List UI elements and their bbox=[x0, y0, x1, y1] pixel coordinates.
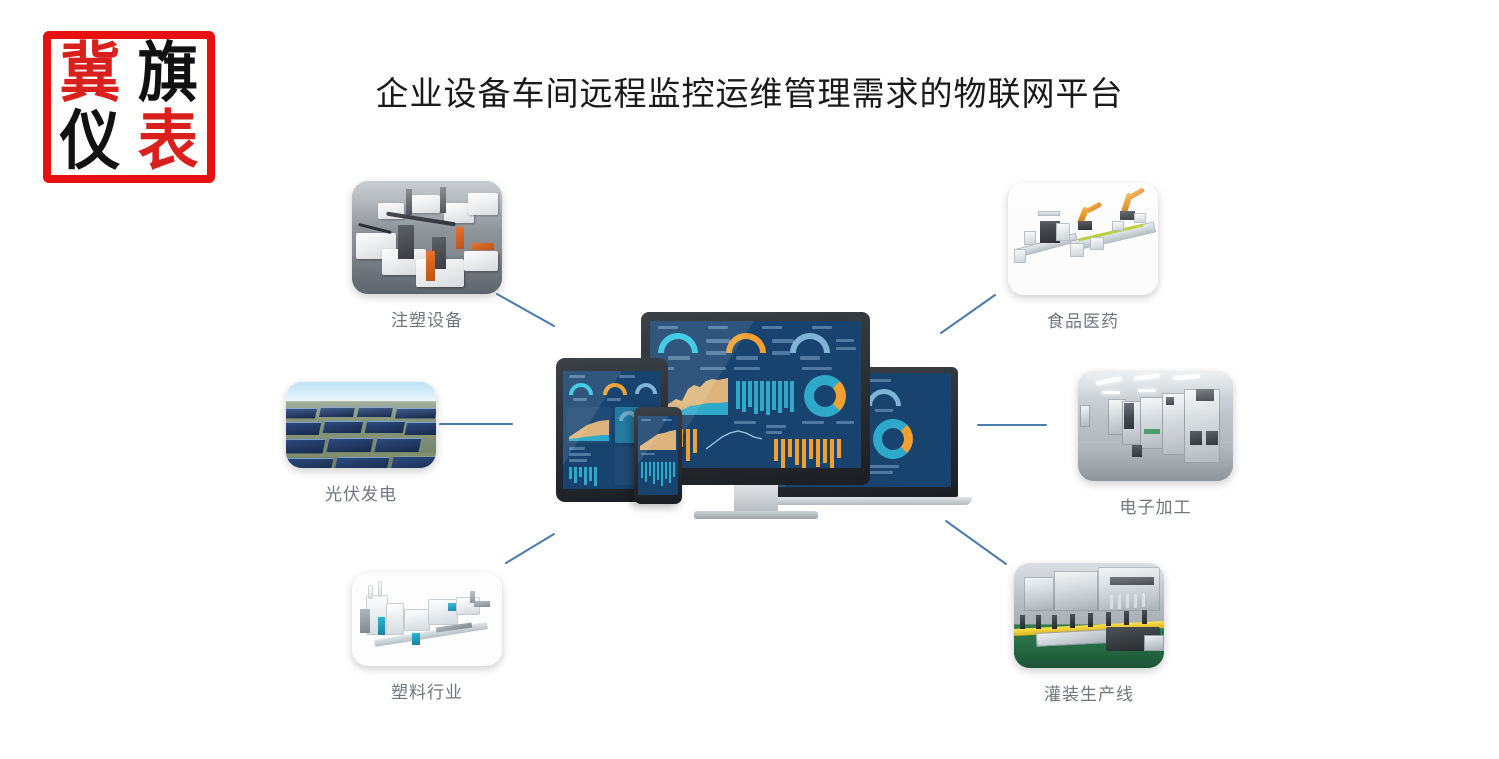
multi-device-dashboard bbox=[556, 312, 976, 522]
connector-top-left bbox=[497, 294, 554, 326]
logo-char-3: 仪 bbox=[60, 109, 120, 174]
photovoltaic-label: 光伏发电 bbox=[286, 480, 436, 505]
plastics-label: 塑料行业 bbox=[352, 678, 502, 703]
filling-line-image bbox=[1014, 563, 1164, 668]
injection-molding-label: 注塑设备 bbox=[352, 306, 502, 331]
logo-char-4: 表 bbox=[138, 109, 198, 174]
node-filling-line[interactable]: 灌装生产线 bbox=[1014, 563, 1164, 705]
plastics-image bbox=[352, 573, 502, 666]
injection-molding-image bbox=[352, 181, 502, 294]
smartphone-device bbox=[634, 407, 682, 504]
electronics-image bbox=[1078, 371, 1233, 481]
node-photovoltaic[interactable]: 光伏发电 bbox=[286, 382, 436, 505]
page-title: 企业设备车间远程监控运维管理需求的物联网平台 bbox=[0, 67, 1499, 115]
food-pharma-image bbox=[1008, 183, 1158, 295]
node-injection-molding[interactable]: 注塑设备 bbox=[352, 181, 502, 331]
filling-line-label: 灌装生产线 bbox=[1014, 680, 1164, 705]
connector-bottom-right bbox=[946, 521, 1006, 564]
node-electronics[interactable]: 电子加工 bbox=[1078, 371, 1233, 518]
smartphone-screen bbox=[638, 416, 678, 495]
food-pharma-label: 食品医药 bbox=[1008, 307, 1158, 332]
node-food-pharma[interactable]: 食品医药 bbox=[1008, 183, 1158, 332]
electronics-label: 电子加工 bbox=[1078, 493, 1233, 518]
photovoltaic-image bbox=[286, 382, 436, 468]
connector-bottom-left bbox=[506, 534, 554, 563]
node-plastics[interactable]: 塑料行业 bbox=[352, 573, 502, 703]
